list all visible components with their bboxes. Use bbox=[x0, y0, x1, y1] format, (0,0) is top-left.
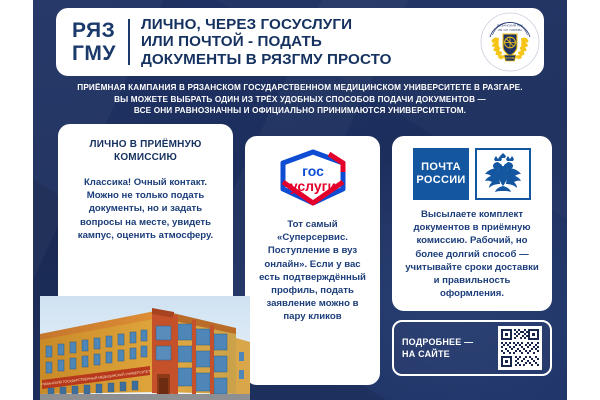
pochta-wordmark-line-2: РОССИИ bbox=[416, 174, 465, 187]
more-info-promo[interactable]: ПОДРОБНЕЕ — НА САЙТЕ bbox=[392, 320, 552, 376]
svg-text:РЯЗАНСКИЙ ГМУ: РЯЗАНСКИЙ ГМУ bbox=[497, 24, 523, 28]
poster-root: РЯЗ ГМУ ЛИЧНО, ЧЕРЕЗ ГОСУСЛУГИ ИЛИ ПОЧТО… bbox=[0, 0, 600, 400]
brand-logo: РЯЗ ГМУ bbox=[56, 19, 128, 65]
brand-line-2: ГМУ bbox=[72, 42, 116, 65]
header-plate: РЯЗ ГМУ ЛИЧНО, ЧЕРЕЗ ГОСУСЛУГИ ИЛИ ПОЧТО… bbox=[56, 8, 544, 76]
card-post-body: Высылаете комплект документов в приёмную… bbox=[392, 200, 552, 300]
subtitle-line-3: ВСЕ ОНИ РАВНОЗНАЧНЫ И ОФИЦИАЛЬНО ПРИНИМА… bbox=[48, 105, 552, 117]
subtitle-text: ПРИЁМНАЯ КАМПАНИЯ В РЯЗАНСКОМ ГОСУДАРСТВ… bbox=[48, 82, 552, 117]
svg-text:ЗДОРОВЬЕ: ЗДОРОВЬЕ bbox=[503, 57, 516, 60]
card-post: ПОЧТА РОССИИ bbox=[392, 136, 552, 311]
pochta-wordmark-line-1: ПОЧТА bbox=[421, 161, 461, 174]
double-headed-eagle-icon bbox=[475, 148, 531, 200]
card-in-person-title: ЛИЧНО В ПРИЁМНУЮ КОМИССИЮ bbox=[58, 124, 233, 164]
page-title: ЛИЧНО, ЧЕРЕЗ ГОСУСЛУГИ ИЛИ ПОЧТОЙ - ПОДА… bbox=[130, 16, 478, 68]
pochta-wordmark-icon: ПОЧТА РОССИИ bbox=[413, 148, 469, 200]
page-title-line-2: ИЛИ ПОЧТОЙ - ПОДАТЬ bbox=[141, 33, 470, 50]
university-building-photo: РЯЗАНСКИЙ ГОСУДАРСТВЕННЫЙ МЕДИЦИНСКИЙ УН… bbox=[40, 296, 250, 400]
brand-line-1: РЯЗ bbox=[72, 19, 116, 42]
page-title-line-3: ДОКУМЕНТЫ В РЯЗГМУ ПРОСТО bbox=[141, 51, 470, 68]
gosuslugi-logo-text-2: услуги bbox=[289, 178, 335, 194]
pochta-rossii-logo: ПОЧТА РОССИИ bbox=[392, 136, 552, 200]
card-gosuslugi-body: Тот самый «Суперсервис. Поступление в ву… bbox=[245, 210, 380, 324]
university-emblem-icon: РЯЗАНСКИЙ ГМУ ИМ. И.П. ПАВЛОВА bbox=[478, 10, 542, 74]
page-title-line-1: ЛИЧНО, ЧЕРЕЗ ГОСУСЛУГИ bbox=[141, 16, 470, 33]
more-info-label-line-2: НА САЙТЕ bbox=[402, 348, 498, 360]
svg-text:ИМ. И.П. ПАВЛОВА: ИМ. И.П. ПАВЛОВА bbox=[498, 28, 522, 32]
gosuslugi-logo-icon: гос услуги bbox=[245, 136, 380, 210]
subtitle-line-2: ВЫ МОЖЕТЕ ВЫБРАТЬ ОДИН ИЗ ТРЁХ УДОБНЫХ С… bbox=[48, 94, 552, 106]
card-gosuslugi: гос услуги Тот самый «Суперсервис. Посту… bbox=[245, 136, 380, 385]
more-info-label-line-1: ПОДРОБНЕЕ — bbox=[402, 336, 498, 348]
card-in-person-body: Классика! Очный контакт. Можно не только… bbox=[58, 164, 233, 242]
more-info-label: ПОДРОБНЕЕ — НА САЙТЕ bbox=[402, 336, 498, 360]
gosuslugi-logo-text-1: гос bbox=[302, 163, 324, 179]
card-in-person-title-line-1: ЛИЧНО В ПРИЁМНУЮ bbox=[70, 138, 221, 151]
subtitle-line-1: ПРИЁМНАЯ КАМПАНИЯ В РЯЗАНСКОМ ГОСУДАРСТВ… bbox=[48, 82, 552, 94]
qr-code-icon[interactable] bbox=[498, 326, 542, 370]
card-in-person-title-line-2: КОМИССИЮ bbox=[70, 151, 221, 164]
